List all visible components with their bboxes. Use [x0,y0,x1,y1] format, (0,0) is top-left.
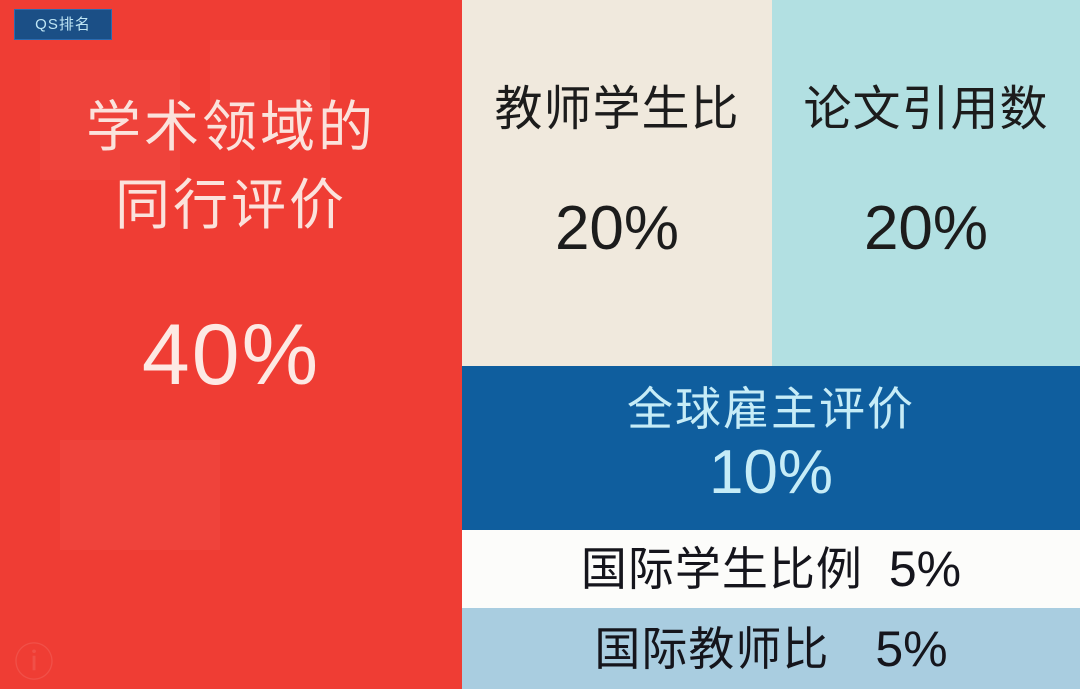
qs-ranking-infographic: ⓘ 学术领域的 同行评价 40% QS排名 教师学生比 20% 论文引用数 20… [0,0,1080,689]
employer-value: 10% [462,442,1080,504]
faculty-title: 教师学生比 [462,86,772,134]
employer-title: 全球雇主评价 [462,386,1080,432]
panel-international-students: 国际学生比例 5% [462,530,1080,608]
qs-ranking-badge-label: QS排名 [35,17,91,32]
academic-title-line-2: 同行评价 [0,166,462,244]
intl-faculty-value: 5% [875,624,947,674]
citations-value: 20% [772,198,1080,260]
panel-academic-reputation: ⓘ 学术领域的 同行评价 40% [0,0,462,689]
intl-students-value: 5% [889,544,961,594]
panel-international-faculty: 国际教师比 5% [462,608,1080,689]
intl-students-label: 国际学生比例 [581,546,863,592]
academic-value: 40% [0,312,462,398]
panel-paper-citations: 论文引用数 20% [772,0,1080,366]
panel-faculty-student-ratio: 教师学生比 20% [462,0,772,366]
academic-title-line-1: 学术领域的 [0,88,462,166]
watermark-glyph: ⓘ [14,643,54,683]
faculty-value: 20% [462,198,772,260]
academic-title: 学术领域的 同行评价 [0,88,462,244]
panel-employer-reputation: 全球雇主评价 10% [462,366,1080,530]
citations-title: 论文引用数 [772,86,1080,134]
qs-ranking-badge: QS排名 [14,9,112,40]
watermark-block [60,440,220,550]
intl-faculty-label: 国际教师比 [594,626,829,672]
